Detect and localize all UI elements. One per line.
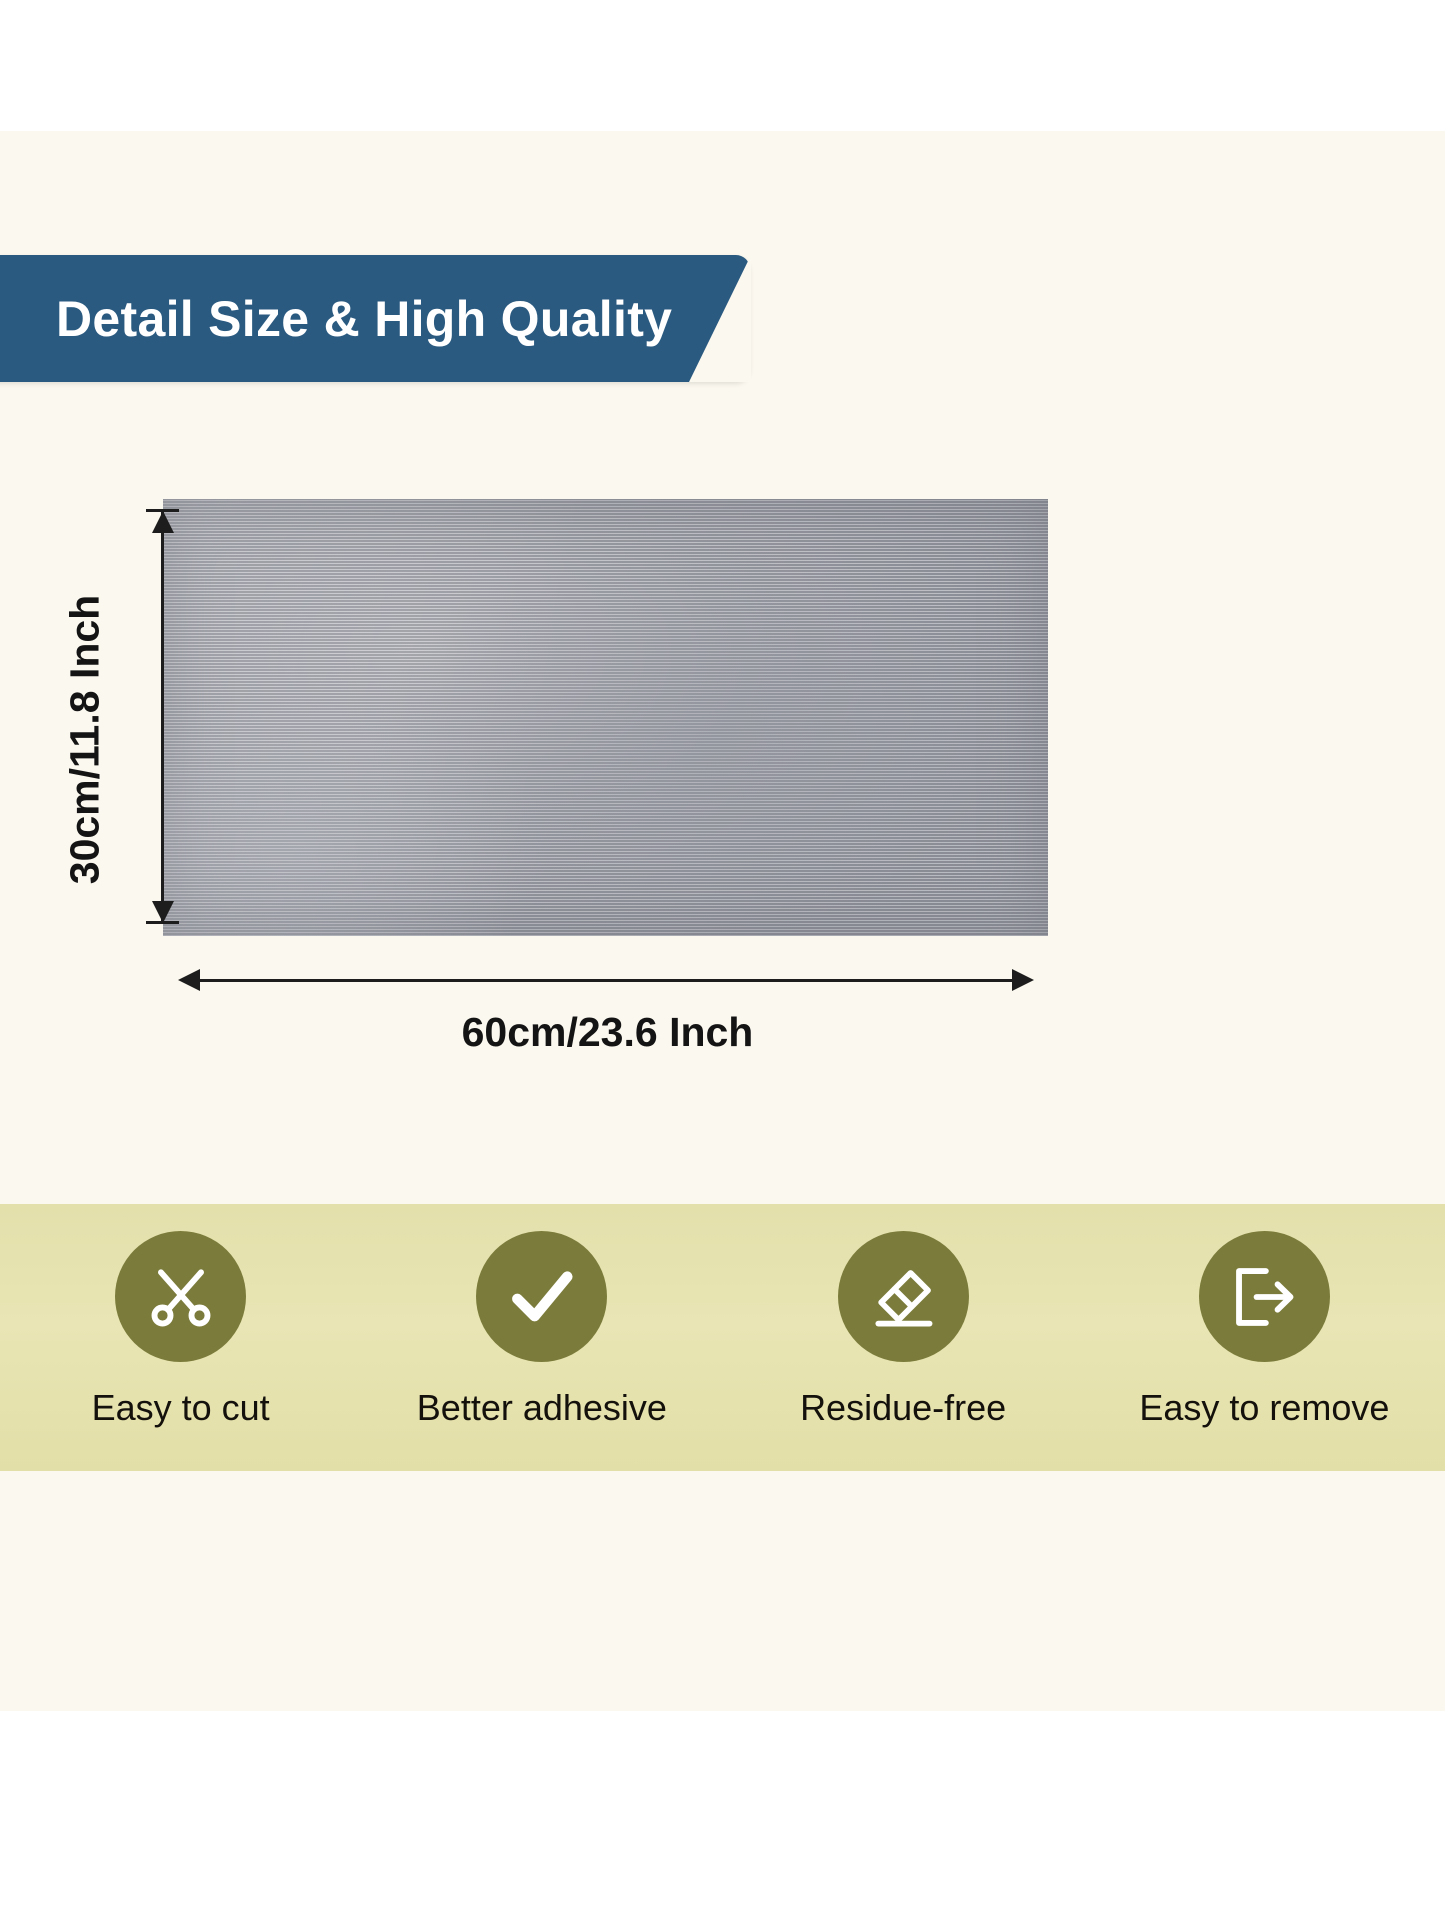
feature-icon-badge xyxy=(1199,1231,1330,1362)
product-mat-swatch xyxy=(163,499,1048,936)
horizontal-dimension-line xyxy=(185,979,1030,982)
feature-icon-badge xyxy=(476,1231,607,1362)
feature-icon-badge xyxy=(838,1231,969,1362)
feature-label: Easy to remove xyxy=(1139,1387,1389,1429)
product-infographic: Detail Size & High Quality 30cm/11.8 Inc… xyxy=(0,0,1445,1927)
arrow-right-icon xyxy=(1012,969,1034,991)
feature-easy-to-cut: Easy to cut xyxy=(0,1204,361,1429)
mat-texture-overlay xyxy=(163,499,1048,936)
scissors-icon xyxy=(144,1260,218,1334)
arrow-up-icon xyxy=(152,511,174,533)
banner-title: Detail Size & High Quality xyxy=(56,255,672,382)
checkmark-icon xyxy=(505,1260,579,1334)
vertical-dimension-line xyxy=(161,511,164,924)
vertical-dimension-label: 30cm/11.8 Inch xyxy=(62,575,109,905)
feature-better-adhesive: Better adhesive xyxy=(361,1204,722,1429)
exit-arrow-icon xyxy=(1227,1260,1301,1334)
banner-notch-shape xyxy=(689,255,751,382)
feature-band: Easy to cut Better adhesive xyxy=(0,1204,1445,1471)
arrow-down-icon xyxy=(152,901,174,923)
eraser-icon xyxy=(865,1259,941,1335)
feature-residue-free: Residue-free xyxy=(723,1204,1084,1429)
feature-easy-to-remove: Easy to remove xyxy=(1084,1204,1445,1429)
feature-label: Residue-free xyxy=(800,1387,1006,1429)
feature-label: Easy to cut xyxy=(92,1387,270,1429)
feature-label: Better adhesive xyxy=(417,1387,667,1429)
poster-canvas: Detail Size & High Quality 30cm/11.8 Inc… xyxy=(0,131,1445,1711)
arrow-left-icon xyxy=(178,969,200,991)
feature-icon-badge xyxy=(115,1231,246,1362)
horizontal-dimension-label: 60cm/23.6 Inch xyxy=(185,1009,1030,1056)
section-banner: Detail Size & High Quality xyxy=(0,255,750,382)
